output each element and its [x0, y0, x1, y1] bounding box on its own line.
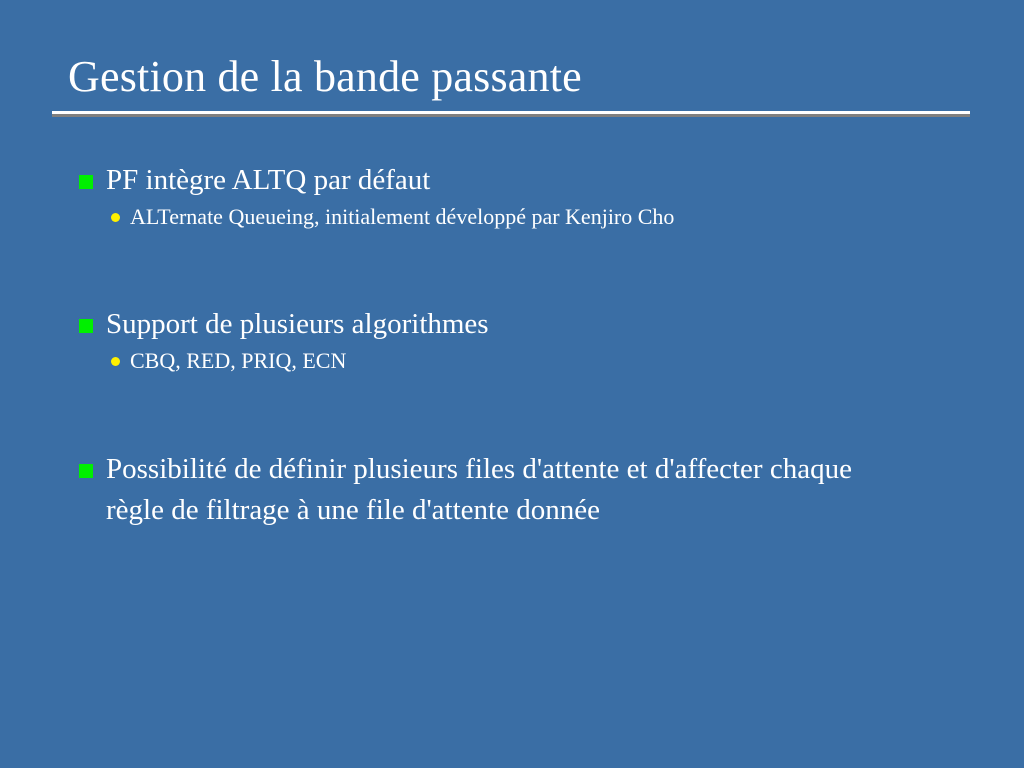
slide-body-content: PF intègre ALTQ par défaut ALTernate Que… — [0, 160, 1024, 531]
yellow-dot-bullet-icon — [111, 357, 120, 366]
list-item: PF intègre ALTQ par défaut — [0, 160, 1024, 201]
page-title: Gestion de la bande passante — [52, 48, 970, 106]
bullet-group: Support de plusieurs algorithmes CBQ, RE… — [0, 304, 1024, 376]
list-item: CBQ, RED, PRIQ, ECN — [0, 345, 1024, 376]
bullet-level1-text: Support de plusieurs algorithmes — [106, 304, 914, 345]
list-item: ALTernate Queueing, initialement dévelop… — [0, 201, 1024, 232]
slide-title-block: Gestion de la bande passante — [52, 48, 970, 106]
yellow-dot-bullet-icon — [111, 213, 120, 222]
bullet-level1-text: PF intègre ALTQ par défaut — [106, 160, 914, 201]
list-item: Support de plusieurs algorithmes — [0, 304, 1024, 345]
bullet-group: PF intègre ALTQ par défaut ALTernate Que… — [0, 160, 1024, 232]
green-square-bullet-icon — [79, 319, 93, 333]
green-square-bullet-icon — [79, 175, 93, 189]
title-divider — [52, 111, 970, 117]
list-item: Possibilité de définir plusieurs files d… — [0, 449, 1024, 531]
bullet-level2-text: CBQ, RED, PRIQ, ECN — [130, 345, 964, 376]
green-square-bullet-icon — [79, 464, 93, 478]
bullet-level2-text: ALTernate Queueing, initialement dévelop… — [130, 201, 964, 232]
presentation-slide: Gestion de la bande passante PF intègre … — [0, 0, 1024, 768]
divider-shadow-line — [52, 114, 970, 117]
bullet-group: Possibilité de définir plusieurs files d… — [0, 449, 1024, 531]
bullet-level1-text: Possibilité de définir plusieurs files d… — [106, 449, 914, 531]
